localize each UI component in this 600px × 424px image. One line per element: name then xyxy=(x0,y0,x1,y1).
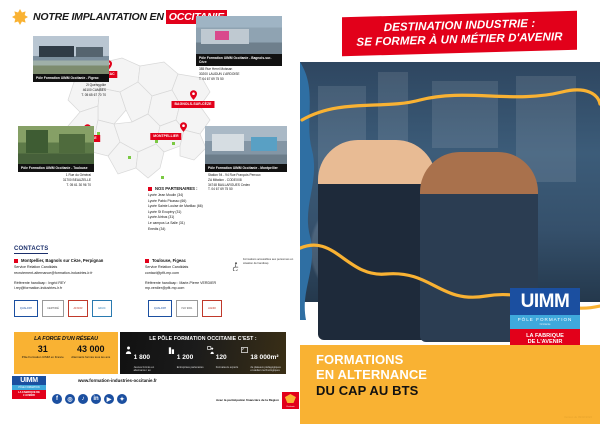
partner-marker xyxy=(155,140,158,143)
map-pin-bagnols xyxy=(190,90,197,100)
pole-stats-title: LE PÔLE FORMATION OCCITANIE C'EST : xyxy=(120,332,286,342)
address-phone: T. 04 67 69 75 50 xyxy=(199,77,279,82)
uimm-tagline-1: LA FABRIQUE xyxy=(526,333,564,339)
map-pin-montpellier xyxy=(180,122,187,132)
star-icon xyxy=(12,9,28,25)
stat-value: 1 800 xyxy=(134,354,151,361)
site-card-montpellier: Pôle Formation UIMM Occitanie - Montpell… xyxy=(205,126,287,192)
uimm-logo-footer: UIMM PÔLE FORMATION LA FABRIQUE DE L'AVE… xyxy=(12,376,46,399)
uimm-name: UIMM xyxy=(12,376,46,385)
site-address: 1 Rue du Général 31700 BEAUZELLE T. 05 6… xyxy=(18,172,94,188)
site-card-bagnols: Pôle Formation UIMM Occitanie - Bagnols-… xyxy=(196,16,282,81)
uimm-sub-block: PÔLE FORMATION Occitanie xyxy=(510,315,580,329)
header-title-text: NOTRE IMPLANTATION EN xyxy=(33,11,164,23)
site-caption: Pôle Formation UIMM Occitanie - Figeac xyxy=(33,74,109,82)
partner-marker xyxy=(128,156,131,159)
stat-label: Jeunes formés en alternance / an xyxy=(134,366,165,373)
site-photo xyxy=(18,126,94,164)
uimm-logo-main: UIMM PÔLE FORMATION Occitanie LA FABRIQU… xyxy=(510,288,580,351)
stat-item: 1 800 Jeunes formés en alternance / an xyxy=(125,346,165,372)
site-caption: Pôle Formation UIMM Occitanie - Bagnols-… xyxy=(196,54,282,66)
stat-value: 31 xyxy=(22,345,64,354)
site-photo xyxy=(205,126,287,164)
twitter-icon[interactable]: ✦ xyxy=(117,394,127,404)
stat-item: 31 Pôle Formation UIMM en France xyxy=(22,345,64,360)
afnor-logo: AFNOR xyxy=(68,300,88,317)
stat-label: Formateurs experts xyxy=(216,366,239,369)
partner-marker xyxy=(161,176,164,179)
stat-item: 43 000 Alternants formés tous les ans xyxy=(71,345,110,360)
stat-text: 120 Formateurs experts xyxy=(216,346,239,369)
accessibility-text: Formations accessibles aux personnes en … xyxy=(243,258,294,266)
website-url[interactable]: www.formation-industries-occitanie.fr xyxy=(78,378,157,383)
site-address: 385 Rue Henri Moissan 30200 LAUDUN L'ARD… xyxy=(196,66,282,82)
region-note: Avec la participation financière de la R… xyxy=(216,398,279,402)
site-card-toulouse: Pôle Formation UIMM Occitanie - Toulouse… xyxy=(18,126,94,187)
certification-logos-right: QUALIOPI ISO 9001 HANDI xyxy=(148,300,222,317)
stat-label: de plateaux pédagogiques et ateliers tec… xyxy=(250,366,281,373)
stat-value: 18 000m² xyxy=(250,354,278,361)
wheelchair-icon xyxy=(232,258,240,276)
contact-referent-email[interactable]: i.rey@formation-industries-lr.fr xyxy=(14,286,139,292)
partners-list: Lycée Jean Moulin (34) Lycée Pablo Picas… xyxy=(148,193,238,232)
network-stats-row: 31 Pôle Formation UIMM en France 43 000 … xyxy=(14,342,118,360)
building-icon xyxy=(168,346,175,354)
teacher-icon xyxy=(207,346,214,354)
uimm-name: UIMM xyxy=(510,288,580,315)
map-label-bagnols: BAGNOLS-SUR-CÈZE xyxy=(171,101,214,108)
handicap-logo: HANDI xyxy=(202,300,222,317)
bullet-square-icon xyxy=(145,259,149,263)
contact-title-text: Toulouse, Figeac xyxy=(152,258,186,263)
band-line-3: DU CAP AU BTS xyxy=(316,383,427,398)
stat-item: 1 200 Entreprises partenaires xyxy=(168,346,204,372)
youtube-icon[interactable]: ▶ xyxy=(104,394,114,404)
partners-heading-text: NOS PARTENAIRES : xyxy=(155,186,198,191)
site-address: 2I Quercypôle 46100 CAMBES T. 05 65 67 7… xyxy=(33,82,109,98)
stat-label: Alternants formés tous les ans xyxy=(71,356,110,360)
linkedin-icon[interactable]: in xyxy=(91,394,101,404)
uimm-tagline: LA FABRIQUE DE L'AVENIR xyxy=(12,390,46,399)
brochure-page: NOTRE IMPLANTATION ENOCCITANIE xyxy=(0,0,600,424)
address-phone: T. 05 65 67 70 70 xyxy=(36,93,106,98)
partners-heading: NOS PARTENAIRES : xyxy=(148,186,238,191)
bullet-square-icon xyxy=(14,259,18,263)
stat-value: 43 000 xyxy=(71,345,110,354)
accessibility-note: Formations accessibles aux personnes en … xyxy=(232,258,294,276)
instagram-icon[interactable]: ◎ xyxy=(65,394,75,404)
tiktok-icon[interactable]: ♪ xyxy=(78,394,88,404)
uimm-region: Occitanie xyxy=(510,323,580,326)
social-links: f ◎ ♪ in ▶ ✦ xyxy=(52,394,127,404)
stat-text: 1 200 Entreprises partenaires xyxy=(177,346,204,369)
version-text: Version du 09/02/2024 xyxy=(564,415,592,419)
band-line-1: FORMATIONS xyxy=(316,352,427,367)
region-partnership: Avec la participation financière de la R… xyxy=(216,392,299,409)
stat-value: 120 xyxy=(216,354,227,361)
bullet-square-icon xyxy=(148,187,152,191)
right-page: DESTINATION INDUSTRIE : SE FORMER À UN M… xyxy=(300,0,600,424)
uimm-sub: PÔLE FORMATION xyxy=(510,317,580,322)
site-caption: Pôle Formation UIMM Occitanie - Toulouse xyxy=(18,164,94,172)
stat-text: 1 800 Jeunes formés en alternance / an xyxy=(134,346,165,372)
map-label-montpellier: MONTPELLIER xyxy=(150,133,181,140)
partners-block: NOS PARTENAIRES : Lycée Jean Moulin (34)… xyxy=(148,186,238,232)
site-caption: Pôle Formation UIMM Occitanie - Montpell… xyxy=(205,164,287,172)
occitanie-logo xyxy=(282,392,299,409)
contact-title-text: Montpellier, Bagnols sur Cèze, Perpignan xyxy=(21,258,103,263)
contact-title: Montpellier, Bagnols sur Cèze, Perpignan xyxy=(14,258,139,263)
pole-stats-row: 1 800 Jeunes formés en alternance / an 1… xyxy=(120,342,286,372)
stat-text: 18 000m² de plateaux pédagogiques et ate… xyxy=(250,346,281,372)
site-photo xyxy=(33,36,109,74)
contacts-heading: CONTACTS xyxy=(14,246,49,252)
qualiopi-logo: QUALIOPI xyxy=(14,300,38,317)
facebook-icon[interactable]: f xyxy=(52,394,62,404)
pole-stats-panel: LE PÔLE FORMATION OCCITANIE C'EST : 1 80… xyxy=(120,332,286,374)
network-stats-panel: LA FORCE D'UN RÉSEAU 31 Pôle Formation U… xyxy=(14,332,118,374)
area-icon xyxy=(241,346,248,354)
site-photo xyxy=(196,16,282,54)
student-photo-left xyxy=(318,140,436,340)
certification-logo: CERTIFIÉ xyxy=(42,300,64,317)
section-header: NOTRE IMPLANTATION ENOCCITANIE xyxy=(12,9,227,25)
partner-logo: EDUC xyxy=(92,300,112,317)
person-icon xyxy=(125,346,132,354)
stat-item: 18 000m² de plateaux pédagogiques et ate… xyxy=(241,346,281,372)
contact-block-montpellier: Montpellier, Bagnols sur Cèze, Perpignan… xyxy=(14,258,139,292)
site-card-figeac: Pôle Formation UIMM Occitanie - Figeac 2… xyxy=(33,36,109,97)
network-stats-title: LA FORCE D'UN RÉSEAU xyxy=(14,332,118,342)
address-phone: T. 05 61 30 96 70 xyxy=(21,183,91,188)
iso-logo: ISO 9001 xyxy=(176,300,198,317)
band-title-group: FORMATIONS EN ALTERNANCE DU CAP AU BTS xyxy=(316,352,427,398)
stat-value: 1 200 xyxy=(177,354,194,361)
band-line-2: EN ALTERNANCE xyxy=(316,367,427,382)
stat-item: 120 Formateurs experts xyxy=(207,346,239,372)
list-item: Enedis (34) xyxy=(148,227,238,233)
qualiopi-logo-2: QUALIOPI xyxy=(148,300,172,317)
certification-logos-left: QUALIOPI CERTIFIÉ AFNOR EDUC xyxy=(14,300,112,317)
partner-marker xyxy=(172,142,175,145)
stat-label: Entreprises partenaires xyxy=(177,366,204,369)
stat-label: Pôle Formation UIMM en France xyxy=(22,356,64,360)
headline-banner: DESTINATION INDUSTRIE : SE FORMER À UN M… xyxy=(342,11,577,57)
left-page: NOTRE IMPLANTATION ENOCCITANIE xyxy=(0,0,300,424)
contact-referent-email[interactable]: mp.verdier@pfit-mp.com xyxy=(145,286,270,292)
